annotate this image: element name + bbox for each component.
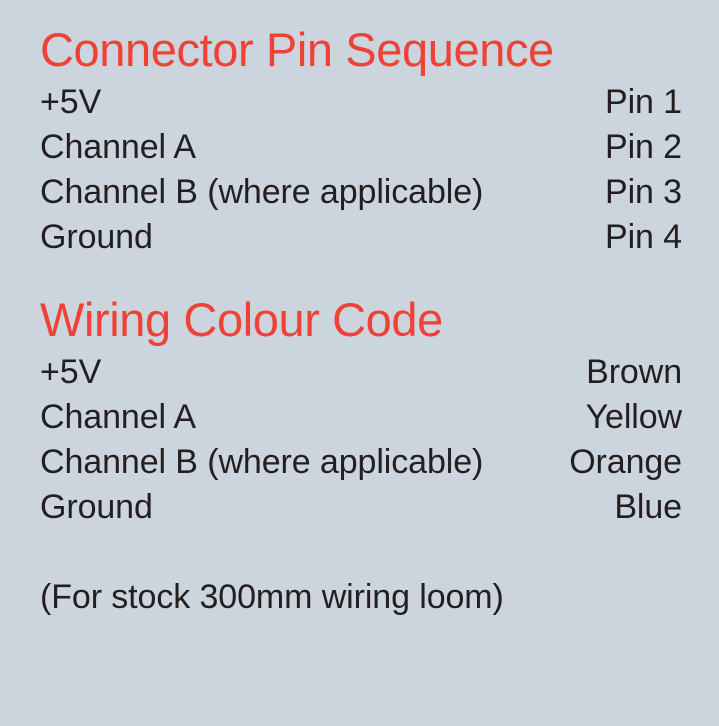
spec-row-label: Channel B (where applicable) [40,440,483,485]
footnote: (For stock 300mm wiring loom) [40,575,682,620]
spec-row-label: Channel A [40,395,196,440]
connector-pin-sequence-section: Connector Pin Sequence +5V Pin 1 Channel… [40,22,682,260]
spec-row-value: Pin 2 [587,125,682,170]
section-spacer [40,260,682,292]
spec-row: Channel A Pin 2 [40,125,682,170]
spec-row-label: Channel B (where applicable) [40,170,483,215]
spec-row: Channel B (where applicable) Pin 3 [40,170,682,215]
spec-row-label: +5V [40,350,101,395]
spec-row-value: Brown [568,350,682,395]
section-heading: Connector Pin Sequence [40,22,682,78]
spec-row-value: Blue [596,485,682,530]
spec-row-label: Ground [40,485,153,530]
spec-row-value: Pin 1 [587,80,682,125]
spec-row-value: Yellow [568,395,682,440]
spec-row: +5V Brown [40,350,682,395]
spec-sheet: Connector Pin Sequence +5V Pin 1 Channel… [0,0,719,726]
spec-row-label: Channel A [40,125,196,170]
section-heading: Wiring Colour Code [40,292,682,348]
spec-row: Channel B (where applicable) Orange [40,440,682,485]
spec-row-value: Pin 4 [587,215,682,260]
spec-row: +5V Pin 1 [40,80,682,125]
spec-row-label: +5V [40,80,101,125]
spec-row-value: Pin 3 [587,170,682,215]
spec-row-value: Orange [551,440,682,485]
spec-row: Channel A Yellow [40,395,682,440]
spec-row-label: Ground [40,215,153,260]
spec-row: Ground Pin 4 [40,215,682,260]
wiring-colour-code-section: Wiring Colour Code +5V Brown Channel A Y… [40,292,682,530]
spec-row: Ground Blue [40,485,682,530]
